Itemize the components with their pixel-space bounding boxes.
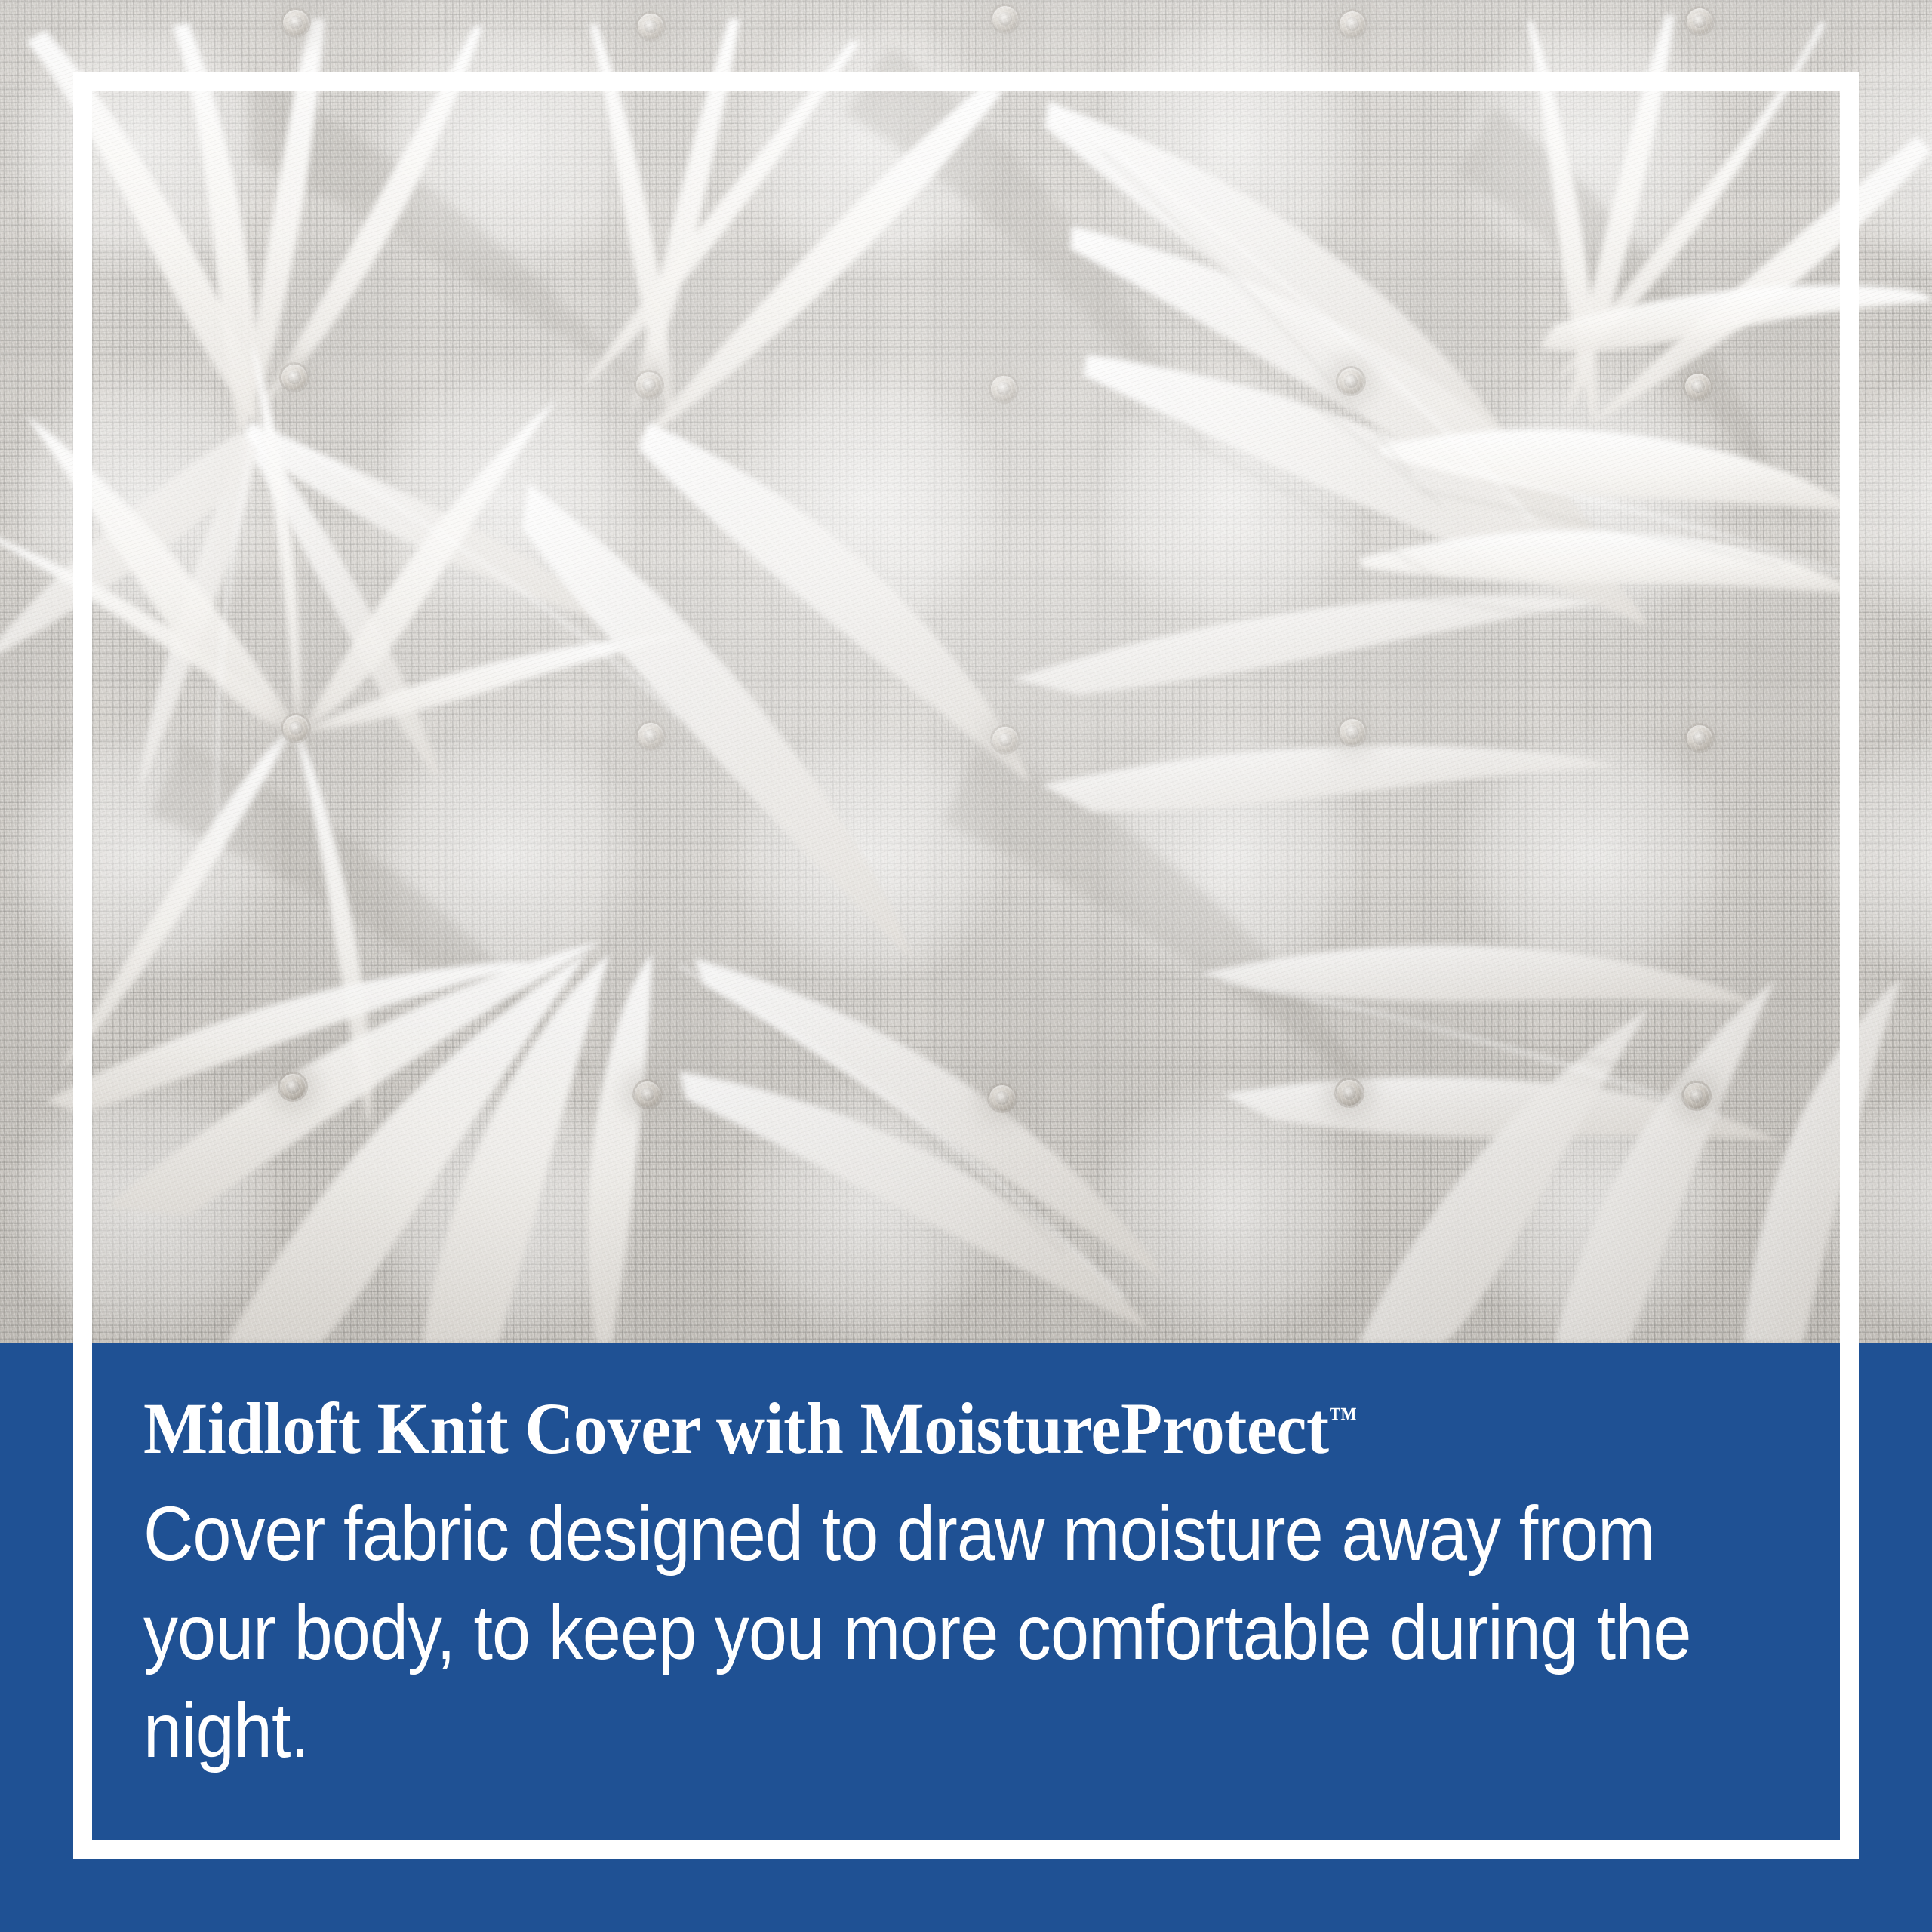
caption-text-block: Midloft Knit Cover with MoistureProtect™… [143,1392,1789,1780]
caption-body-text: Cover fabric designed to draw moisture a… [143,1484,1787,1780]
caption-headline-text: Midloft Knit Cover with MoistureProtect [143,1388,1329,1469]
leaf-frond-pattern [0,0,1932,1343]
product-feature-card: Midloft Knit Cover with MoistureProtect™… [0,0,1932,1932]
trademark-symbol: ™ [1329,1401,1358,1435]
caption-headline: Midloft Knit Cover with MoistureProtect™ [143,1392,1690,1465]
fabric-closeup-photo [0,0,1932,1343]
